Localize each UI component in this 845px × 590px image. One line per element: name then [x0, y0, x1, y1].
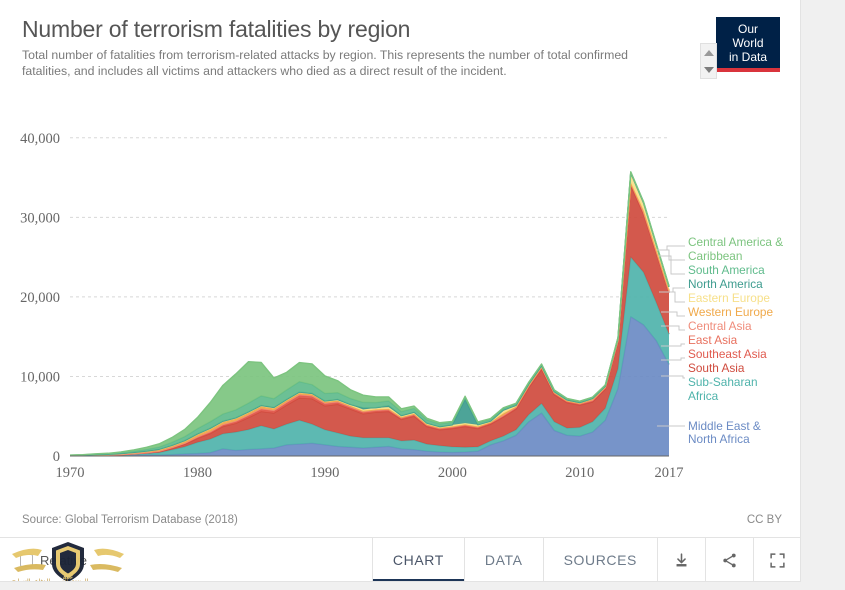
- tab-data-label: DATA: [485, 552, 523, 568]
- tab-data[interactable]: DATA: [464, 538, 543, 582]
- chevron-down-icon[interactable]: [704, 67, 714, 73]
- download-icon: [673, 552, 690, 569]
- relative-label: Relative: [40, 553, 87, 568]
- download-button[interactable]: [657, 538, 705, 582]
- relative-checkbox[interactable]: [20, 554, 33, 567]
- y-tick-label: 30,000: [20, 210, 60, 226]
- screenshot-root: Number of terrorism fatalities by region…: [0, 0, 845, 590]
- page-title: Number of terrorism fatalities by region: [22, 16, 712, 43]
- our-world-in-data-logo[interactable]: Our World in Data: [716, 17, 780, 72]
- chart-subtitle: Total number of fatalities from terroris…: [22, 48, 672, 79]
- legend-item-central-asia[interactable]: Central Asia: [688, 320, 798, 334]
- chevron-up-icon[interactable]: [704, 50, 714, 56]
- legend-item-sub-saharan-africa[interactable]: Sub-Saharan Africa: [688, 376, 798, 403]
- area-south-asia[interactable]: [70, 186, 669, 456]
- fullscreen-icon: [769, 552, 786, 569]
- y-tick-label: 20,000: [20, 290, 60, 306]
- legend-item-middle-east-north-africa[interactable]: Middle East & North Africa: [688, 420, 798, 447]
- watermark-title: ARAB DEFENSE FORUM: [35, 582, 100, 583]
- logo-line-2: in Data: [723, 50, 773, 64]
- watermark-subtitle: المنتدى العربي للدفاع والتسليح: [12, 578, 88, 582]
- x-tick-label: 2010: [565, 465, 594, 481]
- plot-area[interactable]: 010,00020,00030,00040,000197019801990200…: [14, 88, 684, 488]
- chart-footer-toolbar: Relative CHART DATA SOURCES: [0, 538, 801, 582]
- legend-item-eastern-europe[interactable]: Eastern Europe: [688, 292, 798, 306]
- tab-sources-label: SOURCES: [564, 552, 637, 568]
- y-tick-label: 40,000: [20, 131, 60, 147]
- chart-card: Number of terrorism fatalities by region…: [0, 0, 801, 582]
- chart-legend: Central America & CaribbeanSouth America…: [688, 236, 798, 447]
- scroll-spinner[interactable]: [700, 43, 717, 79]
- license-note: CC BY: [747, 514, 782, 526]
- x-tick-label: 1970: [56, 465, 85, 481]
- legend-item-south-america[interactable]: South America: [688, 264, 798, 278]
- legend-item-north-america[interactable]: North America: [688, 278, 798, 292]
- share-button[interactable]: [705, 538, 753, 582]
- legend-item-south-asia[interactable]: South Asia: [688, 362, 798, 376]
- legend-item-western-europe[interactable]: Western Europe: [688, 306, 798, 320]
- x-tick-label: 2017: [655, 465, 684, 481]
- tab-sources[interactable]: SOURCES: [543, 538, 657, 582]
- x-tick-label: 2000: [438, 465, 467, 481]
- fullscreen-button[interactable]: [753, 538, 801, 582]
- stacked-area-chart[interactable]: 010,00020,00030,00040,000197019801990200…: [14, 88, 684, 488]
- y-tick-label: 10,000: [20, 369, 60, 385]
- x-tick-label: 1990: [310, 465, 339, 481]
- chart-header: Number of terrorism fatalities by region…: [22, 16, 712, 79]
- tab-chart[interactable]: CHART: [372, 538, 464, 582]
- source-note: Source: Global Terrorism Database (2018): [22, 514, 238, 526]
- legend-item-southeast-asia[interactable]: Southeast Asia: [688, 348, 798, 362]
- legend-item-east-asia[interactable]: East Asia: [688, 334, 798, 348]
- share-icon: [721, 552, 738, 569]
- legend-item-central-america-caribbean[interactable]: Central America & Caribbean: [688, 236, 798, 263]
- relative-toggle[interactable]: Relative: [0, 538, 372, 582]
- x-tick-label: 1980: [183, 465, 212, 481]
- logo-line-1: Our World: [723, 22, 773, 50]
- y-tick-label: 0: [53, 449, 60, 465]
- tab-chart-label: CHART: [393, 552, 444, 568]
